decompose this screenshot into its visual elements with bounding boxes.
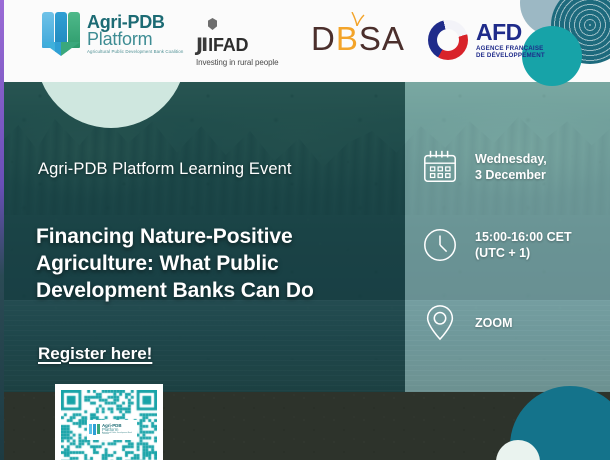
logo-ifad: JI IFAD Investing in rural people — [196, 18, 278, 67]
clock-icon — [421, 226, 459, 264]
partner-logo-row: Agri-PDB Platform Agricultural Public De… — [0, 0, 610, 82]
time-line1: 15:00-16:00 CET — [475, 229, 572, 246]
ifad-arabic-mark: JI — [196, 34, 206, 56]
detail-row-time: 15:00-16:00 CET (UTC + 1) — [421, 226, 572, 264]
logo-agri-pdb-platform: Agri-PDB Platform Agricultural Public De… — [42, 12, 183, 56]
qr-logo-line3: Agricultural Public Development Bank Coa… — [102, 433, 135, 437]
dbsa-part1: D — [311, 20, 336, 57]
afd-ring-icon — [428, 20, 468, 60]
ifad-crest-icon — [206, 18, 219, 33]
left-edge-strip — [0, 0, 4, 460]
ifad-tagline: Investing in rural people — [196, 58, 278, 67]
detail-row-date: Wednesday, 3 December — [421, 148, 547, 186]
event-kicker: Agri-PDB Platform Learning Event — [38, 160, 378, 179]
registration-qr-code[interactable]: Agri-PDB Platform Agricultural Public De… — [55, 384, 163, 460]
qr-center-logo: Agri-PDB Platform Agricultural Public De… — [87, 420, 137, 440]
date-line2: 3 December — [475, 167, 547, 184]
event-poster: Agri-PDB Platform Agricultural Public De… — [0, 0, 610, 460]
register-link[interactable]: Register here! — [38, 344, 152, 364]
location-line1: ZOOM — [475, 315, 513, 332]
afd-line2: DE DÉVELOPPEMENT — [476, 53, 545, 59]
agripdb-line2: Platform — [87, 30, 183, 48]
book-leaf-icon — [42, 12, 80, 56]
event-title: Financing Nature-Positive Agriculture: W… — [36, 224, 376, 305]
ifad-name: IFAD — [208, 35, 248, 56]
sprout-icon — [348, 12, 366, 26]
time-line2: (UTC + 1) — [475, 245, 572, 262]
logo-dbsa: DBSA — [311, 22, 405, 55]
book-leaf-icon-small — [89, 424, 100, 437]
calendar-icon — [421, 148, 459, 186]
location-pin-icon — [421, 304, 459, 342]
afd-name: AFD — [476, 21, 545, 44]
detail-row-location: ZOOM — [421, 304, 513, 342]
event-details-panel: Wednesday, 3 December 15:00-16:00 CET (U… — [405, 82, 610, 392]
logo-afd: AFD AGENCE FRANÇAISE DE DÉVELOPPEMENT — [428, 20, 545, 60]
date-line1: Wednesday, — [475, 151, 547, 168]
agripdb-tagline: Agricultural Public Development Bank Coa… — [87, 50, 183, 54]
